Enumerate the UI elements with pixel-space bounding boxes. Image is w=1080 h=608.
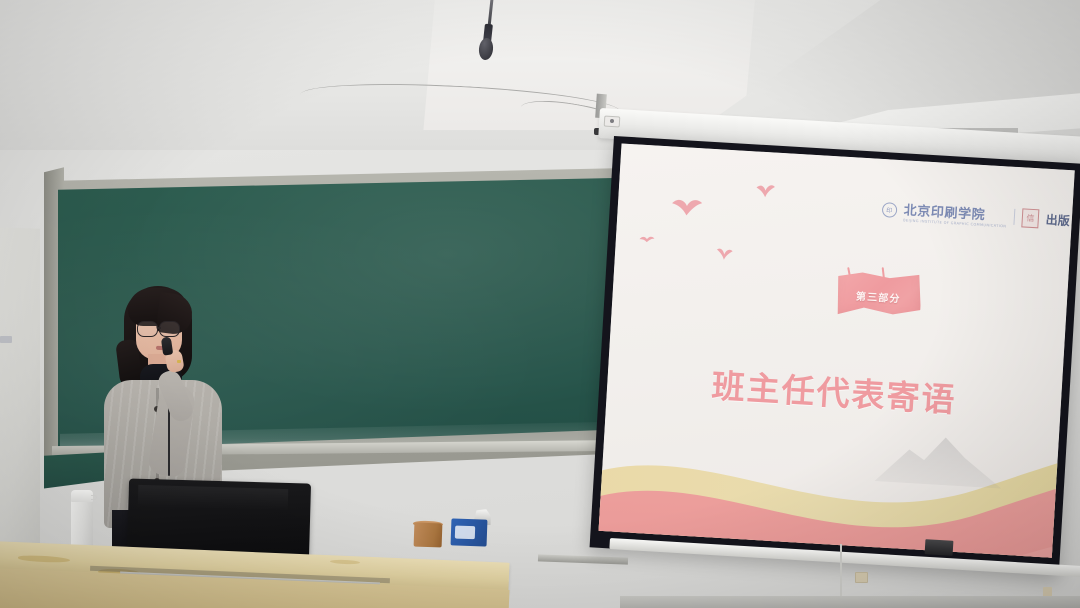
section-flag-banner: 第三部分 bbox=[834, 269, 923, 324]
presenter-glasses-bridge bbox=[157, 327, 161, 329]
presenter-glasses-right-lens bbox=[159, 321, 180, 337]
section-flag-label: 第三部分 bbox=[835, 286, 922, 306]
cabinet-label bbox=[0, 336, 12, 343]
publishing-logo-text: 出版 bbox=[1045, 211, 1070, 229]
projection-screen[interactable]: 印 北京印刷学院 BEIJING INSTITUTE OF GRAPHIC CO… bbox=[590, 136, 1080, 575]
tissue-box-label bbox=[455, 526, 475, 540]
bird-3-icon bbox=[715, 246, 734, 261]
screen-housing-dot bbox=[610, 119, 614, 123]
bird-4-icon bbox=[755, 183, 777, 199]
logo-divider bbox=[1013, 209, 1015, 225]
bird-1-icon bbox=[638, 234, 655, 244]
presenter-ring bbox=[177, 360, 181, 363]
left-wall-cabinet bbox=[0, 227, 40, 565]
laptop-screen-sheen bbox=[138, 485, 289, 511]
bigc-seal-icon: 印 bbox=[881, 202, 897, 218]
wall-outlet bbox=[855, 572, 868, 583]
flag-body: 第三部分 bbox=[834, 269, 923, 324]
projection-screen-weight bbox=[925, 539, 954, 556]
floor-baseboard bbox=[620, 596, 1080, 608]
publishing-seal-icon: 信 bbox=[1021, 208, 1039, 228]
projection-screen-surface: 印 北京印刷学院 BEIJING INSTITUTE OF GRAPHIC CO… bbox=[599, 143, 1075, 557]
paper-cup bbox=[414, 523, 443, 548]
thermos-cap bbox=[71, 490, 93, 502]
classroom-photo: 印 北京印刷学院 BEIJING INSTITUTE OF GRAPHIC CO… bbox=[0, 0, 1080, 608]
thermos-handle-loop bbox=[91, 495, 97, 500]
tissue-box bbox=[451, 518, 488, 546]
presenter-glasses-left-lens bbox=[137, 321, 158, 337]
bird-2-icon bbox=[672, 197, 703, 218]
